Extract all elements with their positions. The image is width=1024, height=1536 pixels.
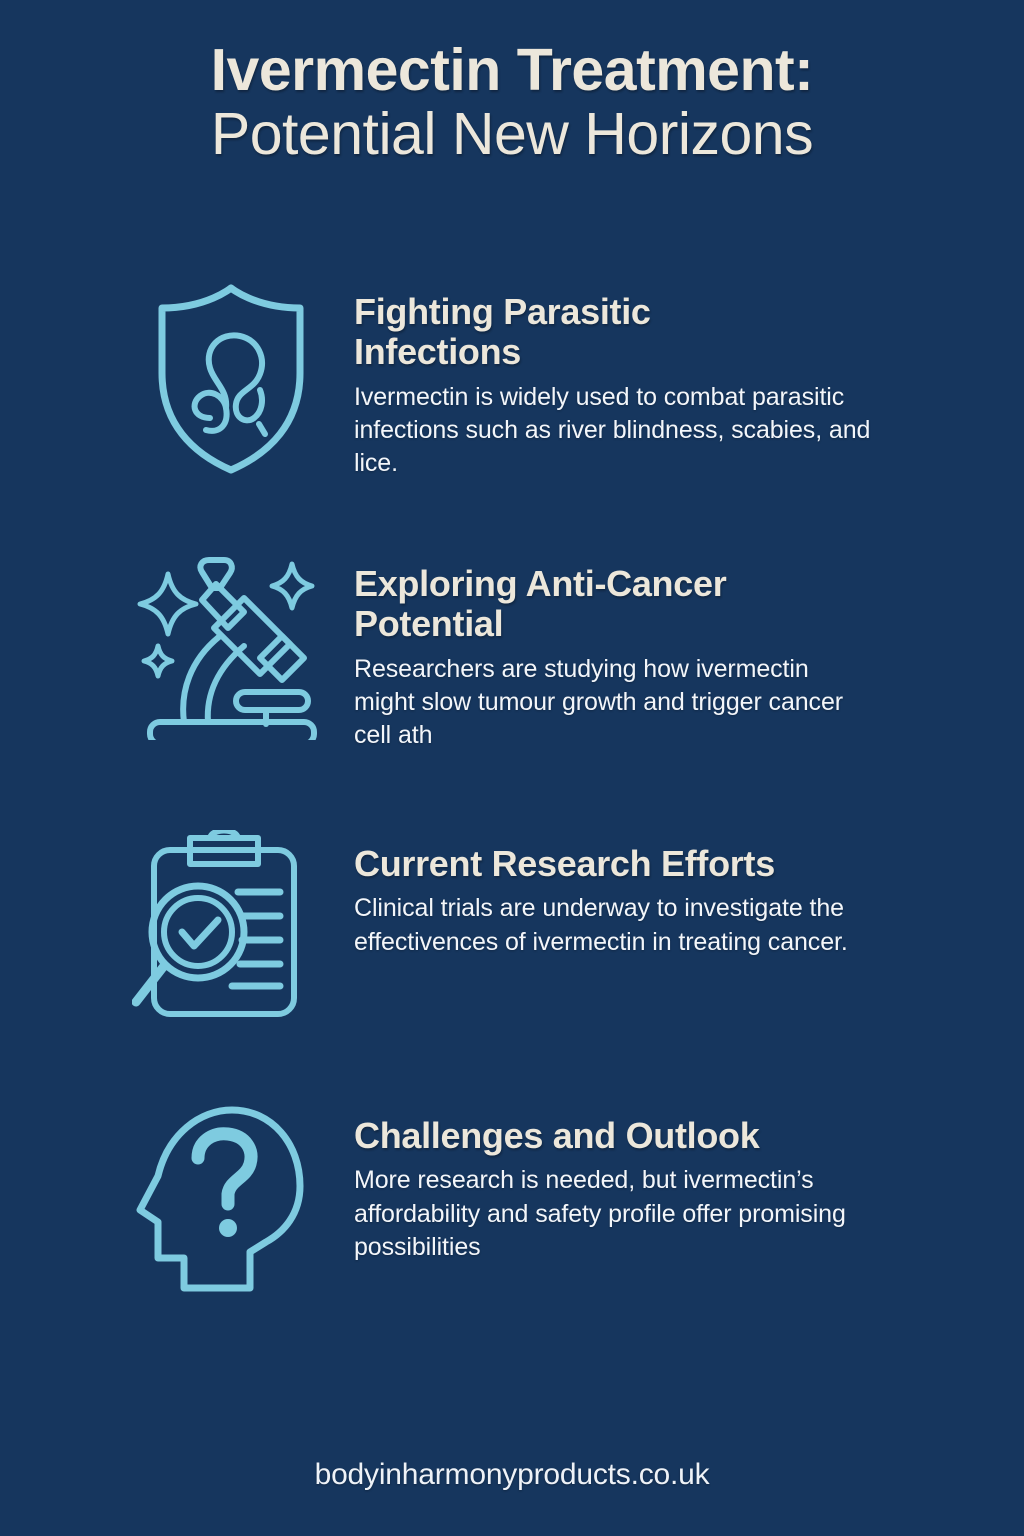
section-heading: Exploring Anti-Cancer Potential — [354, 564, 824, 645]
section-heading: Current Research Efforts — [354, 844, 824, 884]
title-line-2: Potential New Horizons — [0, 100, 1024, 170]
section-body: More research is needed, but ivermectin’… — [354, 1164, 874, 1264]
clipboard-magnifier-check-icon — [132, 824, 354, 1025]
page-title: Ivermectin Treatment: Potential New Hori… — [0, 0, 1024, 170]
section-item: Exploring Anti-Cancer Potential Research… — [0, 544, 1024, 824]
section-item: Challenges and Outlook More research is … — [0, 1096, 1024, 1396]
sections-list: Fighting Parasitic Infections Ivermectin… — [0, 272, 1024, 1396]
shield-parasite-icon — [132, 272, 354, 478]
section-text: Challenges and Outlook More research is … — [354, 1096, 1024, 1264]
section-item: Current Research Efforts Clinical trials… — [0, 824, 1024, 1096]
section-heading: Fighting Parasitic Infections — [354, 292, 824, 373]
footer: bodyinharmonyproducts.co.uk — [0, 1458, 1024, 1492]
head-question-mark-icon — [132, 1096, 354, 1302]
section-text: Fighting Parasitic Infections Ivermectin… — [354, 272, 1024, 480]
section-body: Researchers are studying how ivermectin … — [354, 653, 874, 753]
microscope-icon — [132, 544, 354, 740]
section-item: Fighting Parasitic Infections Ivermectin… — [0, 272, 1024, 544]
section-text: Current Research Efforts Clinical trials… — [354, 824, 1024, 959]
section-heading: Challenges and Outlook — [354, 1116, 824, 1156]
title-line-1: Ivermectin Treatment: — [0, 40, 1024, 100]
section-body: Clinical trials are underway to investig… — [354, 892, 874, 959]
website-url[interactable]: bodyinharmonyproducts.co.uk — [315, 1458, 710, 1491]
infographic-page: Ivermectin Treatment: Potential New Hori… — [0, 0, 1024, 1536]
section-text: Exploring Anti-Cancer Potential Research… — [354, 544, 1024, 752]
section-body: Ivermectin is widely used to combat para… — [354, 381, 874, 481]
